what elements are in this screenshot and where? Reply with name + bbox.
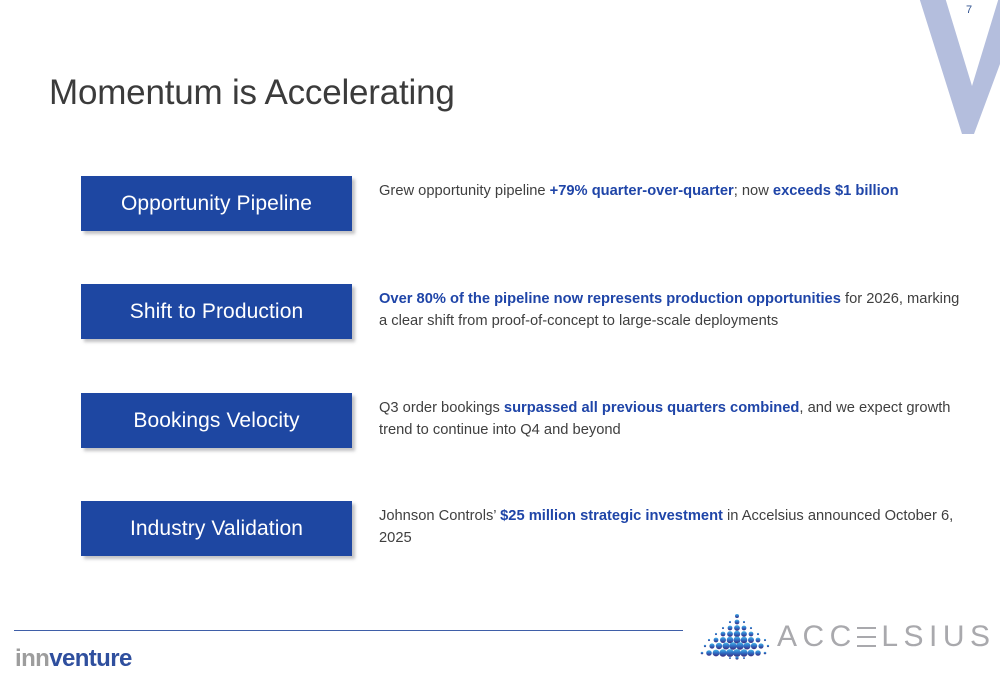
accelsius-logo: ACCLSIUS bbox=[699, 610, 979, 670]
category-pill-shift-to-production[interactable]: Shift to Production bbox=[81, 284, 352, 339]
plain-text: ; now bbox=[734, 183, 773, 199]
innventure-logo-part-one: inn bbox=[15, 645, 49, 672]
category-pill-bookings-velocity[interactable]: Bookings Velocity bbox=[81, 393, 352, 448]
category-pill-opportunity-pipeline[interactable]: Opportunity Pipeline bbox=[81, 176, 352, 231]
innventure-logo: innventure bbox=[15, 645, 132, 673]
category-pill-label: Opportunity Pipeline bbox=[121, 192, 312, 216]
corner-chevron-graphic bbox=[904, 0, 1000, 134]
slide-canvas: 7 Momentum is Accelerating Opportunity P… bbox=[0, 0, 1000, 685]
category-pill-industry-validation[interactable]: Industry Validation bbox=[81, 501, 352, 556]
category-pill-label: Industry Validation bbox=[130, 517, 303, 541]
accelsius-dot-triangle-icon bbox=[699, 612, 775, 662]
row-description-bookings-velocity: Q3 order bookings surpassed all previous… bbox=[379, 397, 971, 441]
row-description-opportunity-pipeline: Grew opportunity pipeline +79% quarter-o… bbox=[379, 180, 971, 202]
accent-text: exceeds $1 billion bbox=[773, 183, 899, 199]
accelsius-wordmark-prefix: ACC bbox=[777, 619, 857, 655]
footer-divider bbox=[14, 630, 683, 631]
row-description-shift-to-production: Over 80% of the pipeline now represents … bbox=[379, 288, 971, 332]
plain-text: Q3 order bookings bbox=[379, 400, 504, 416]
accent-text: surpassed all previous quarters combined bbox=[504, 400, 799, 416]
plain-text: Grew opportunity pipeline bbox=[379, 183, 550, 199]
plain-text: Johnson Controls’ bbox=[379, 508, 500, 524]
accelsius-wordmark: ACCLSIUS bbox=[777, 619, 996, 655]
page-title: Momentum is Accelerating bbox=[49, 71, 455, 115]
accent-text: +79% quarter-over-quarter bbox=[550, 183, 734, 199]
accelsius-wordmark-suffix: LSIUS bbox=[881, 619, 995, 655]
row-description-industry-validation: Johnson Controls’ $25 million strategic … bbox=[379, 505, 971, 549]
category-pill-label: Shift to Production bbox=[130, 300, 304, 324]
accent-text: Over 80% of the pipeline now represents … bbox=[379, 291, 841, 307]
innventure-logo-part-two: venture bbox=[49, 645, 132, 672]
category-pill-label: Bookings Velocity bbox=[133, 409, 299, 433]
page-number: 7 bbox=[966, 4, 972, 16]
accent-text: $25 million strategic investment bbox=[500, 508, 723, 524]
page-number-wrap: 7 bbox=[904, 0, 1000, 134]
accelsius-stylized-e-icon bbox=[857, 627, 876, 648]
